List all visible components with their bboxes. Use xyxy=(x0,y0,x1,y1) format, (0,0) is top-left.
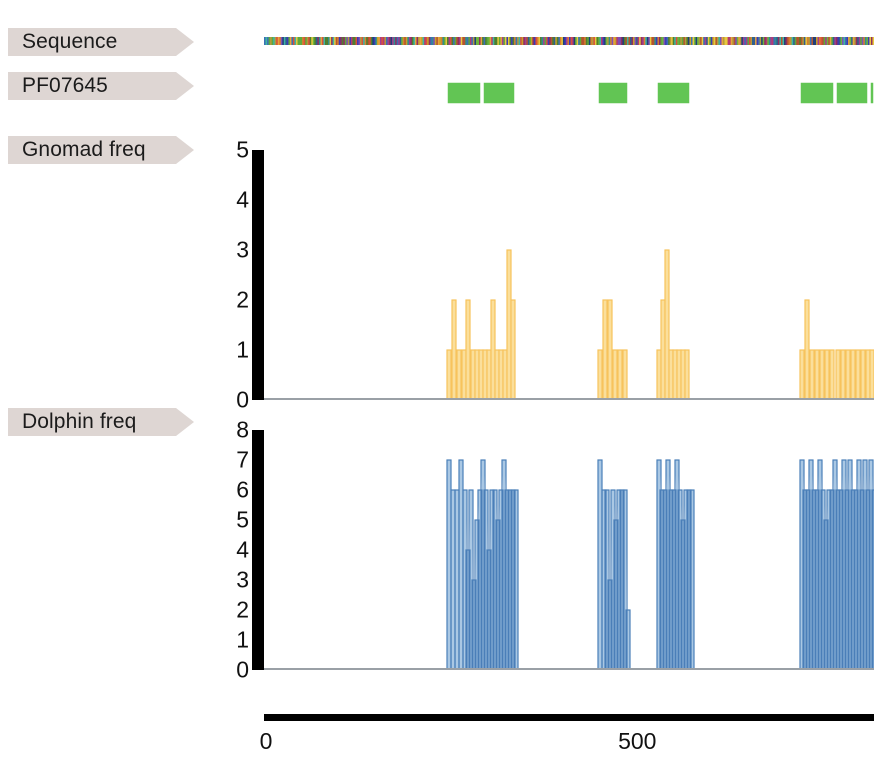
domain-blocks xyxy=(0,82,874,104)
dolphin-bars xyxy=(264,430,874,670)
dolphin_freq-tick-6: 6 xyxy=(209,479,249,502)
track-label-dolphin-freq[interactable]: Dolphin freq xyxy=(8,408,176,436)
sequence-track[interactable] xyxy=(264,37,874,45)
track-label-gnomad-freq-text: Gnomad freq xyxy=(22,138,146,162)
genome-browser-stage: Sequence PF07645 Gnomad freq Dolphin fre… xyxy=(0,0,874,772)
gnomad_freq-tick-0: 0 xyxy=(209,389,249,412)
chart-gnomad-freq[interactable]: 012345 xyxy=(252,150,874,400)
pennant-tip-icon xyxy=(176,408,194,436)
track-label-gnomad-freq[interactable]: Gnomad freq xyxy=(8,136,176,164)
dolphin-baseline xyxy=(264,668,874,670)
ruler-label-500: 500 xyxy=(618,728,656,755)
gnomad-baseline xyxy=(264,398,874,400)
gnomad-bars xyxy=(264,150,874,400)
track-label-sequence[interactable]: Sequence xyxy=(8,28,176,56)
dolphin_freq-tick-4: 4 xyxy=(209,539,249,562)
gnomad_freq-tick-5: 5 xyxy=(209,139,249,162)
dolphin_freq-tick-5: 5 xyxy=(209,509,249,532)
dolphin-axis-bar xyxy=(252,430,264,670)
ruler-label-0: 0 xyxy=(260,728,273,755)
track-label-sequence-text: Sequence xyxy=(22,30,117,54)
gnomad-axis-bar xyxy=(252,150,264,400)
dolphin_freq-tick-3: 3 xyxy=(209,569,249,592)
x-axis-ruler[interactable] xyxy=(264,714,874,721)
dolphin_freq-tick-0: 0 xyxy=(209,659,249,682)
dolphin_freq-tick-1: 1 xyxy=(209,629,249,652)
dolphin-plot-area[interactable] xyxy=(264,430,874,670)
pennant-tip-icon xyxy=(176,136,194,164)
gnomad_freq-tick-2: 2 xyxy=(209,289,249,312)
gnomad_freq-tick-3: 3 xyxy=(209,239,249,262)
gnomad_freq-tick-1: 1 xyxy=(209,339,249,362)
dolphin_freq-tick-8: 8 xyxy=(209,419,249,442)
gnomad-y-axis-ticks: 012345 xyxy=(209,150,249,400)
pennant-tip-icon xyxy=(176,28,194,56)
chart-dolphin-freq[interactable]: 012345678 xyxy=(252,430,874,670)
sequence-bar xyxy=(264,37,874,45)
domain-track-pf07645[interactable] xyxy=(0,82,874,104)
gnomad_freq-tick-4: 4 xyxy=(209,189,249,212)
dolphin-y-axis-ticks: 012345678 xyxy=(209,430,249,670)
dolphin_freq-tick-2: 2 xyxy=(209,599,249,622)
dolphin_freq-tick-7: 7 xyxy=(209,449,249,472)
track-label-dolphin-freq-text: Dolphin freq xyxy=(22,410,136,434)
gnomad-plot-area[interactable] xyxy=(264,150,874,400)
